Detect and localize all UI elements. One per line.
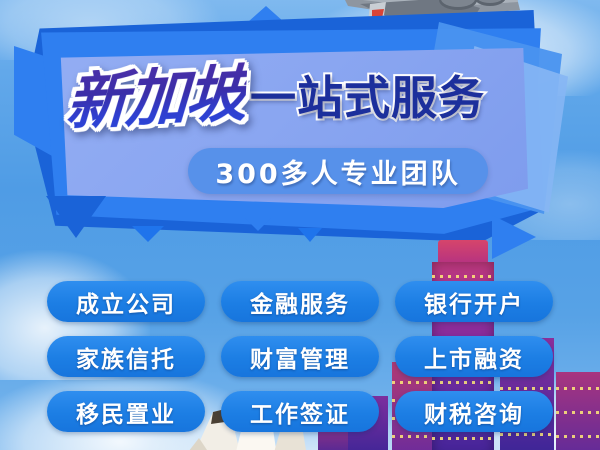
headline-brush-text: 新加坡 bbox=[64, 62, 247, 134]
service-row-2: 移民置业 工作签证 财税咨询 bbox=[0, 391, 600, 431]
headline-sub-text: 一站式服务 bbox=[250, 75, 485, 121]
triangle-small-a-icon bbox=[132, 226, 164, 242]
promo-poster: 新加坡 一站式服务 300多人专业团队 bbox=[0, 0, 600, 450]
service-button-label: 财税咨询 bbox=[424, 395, 524, 429]
banner-block: 新加坡 一站式服务 300多人专业团队 bbox=[0, 0, 600, 250]
service-button-label: 工作签证 bbox=[250, 395, 350, 429]
service-button-label: 银行开户 bbox=[424, 285, 524, 319]
service-button-label: 金融服务 bbox=[250, 285, 350, 319]
service-row-0: 成立公司 金融服务 银行开户 bbox=[0, 281, 600, 321]
service-button-financial-services[interactable]: 金融服务 bbox=[221, 281, 379, 322]
triangle-small-c-icon bbox=[298, 228, 322, 242]
triangle-small-b-icon bbox=[245, 218, 271, 231]
service-button-work-visa[interactable]: 工作签证 bbox=[221, 391, 379, 432]
service-buttons-grid: 成立公司 金融服务 银行开户 家族信托 财富管理 上市融资 移民置业 bbox=[0, 276, 600, 444]
service-button-bank-account[interactable]: 银行开户 bbox=[395, 281, 553, 322]
service-button-label: 上市融资 bbox=[424, 340, 524, 374]
service-button-label: 成立公司 bbox=[76, 285, 176, 319]
subtitle-text: 300多人专业团队 bbox=[215, 152, 460, 191]
service-button-tax-consulting[interactable]: 财税咨询 bbox=[395, 391, 553, 432]
service-row-1: 家族信托 财富管理 上市融资 bbox=[0, 336, 600, 376]
service-button-label: 财富管理 bbox=[250, 340, 350, 374]
service-button-incorporation[interactable]: 成立公司 bbox=[47, 281, 205, 322]
headline: 新加坡 一站式服务 bbox=[66, 56, 526, 140]
subtitle-pill: 300多人专业团队 bbox=[188, 148, 488, 194]
triangle-small-left-icon bbox=[46, 196, 106, 238]
service-button-family-trust[interactable]: 家族信托 bbox=[47, 336, 205, 377]
service-button-ipo-financing[interactable]: 上市融资 bbox=[395, 336, 553, 377]
service-button-label: 移民置业 bbox=[76, 395, 176, 429]
service-button-wealth-management[interactable]: 财富管理 bbox=[221, 336, 379, 377]
building-main-cap bbox=[438, 240, 488, 262]
service-button-immigration-property[interactable]: 移民置业 bbox=[47, 391, 205, 432]
service-button-label: 家族信托 bbox=[76, 340, 176, 374]
